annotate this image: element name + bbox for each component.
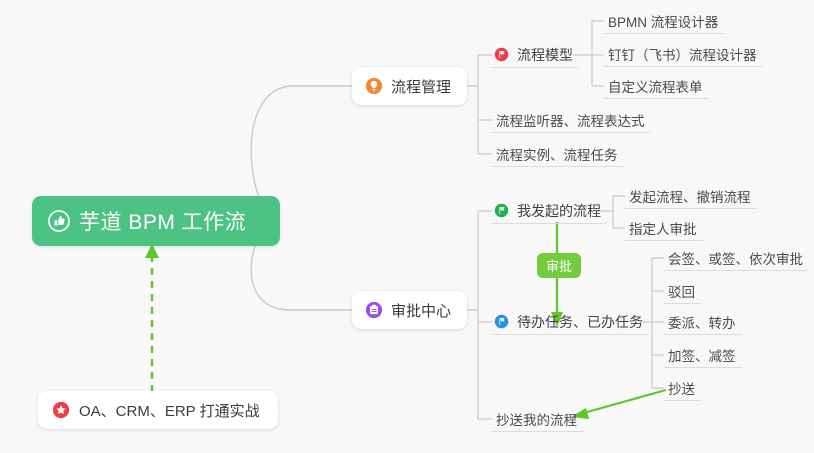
flag-icon-red — [494, 47, 509, 62]
root-node[interactable]: 芋道 BPM 工作流 — [32, 196, 280, 246]
sub-node-label: 我发起的流程 — [517, 201, 601, 221]
leaf-label: 抄送我的流程 — [496, 409, 577, 429]
leaf-add-remove-sign[interactable]: 加签、减签 — [664, 343, 742, 368]
flag-icon-green — [494, 203, 509, 218]
thumbs-up-icon — [48, 210, 70, 232]
branch-process-management[interactable]: 流程管理 — [352, 67, 467, 105]
leaf-custom-form[interactable]: 自定义流程表单 — [604, 74, 709, 99]
sub-node-label: 待办任务、已办任务 — [517, 312, 643, 332]
leaf-label: 驳回 — [668, 281, 695, 301]
link-todo-to-leaf1 — [652, 258, 664, 322]
root-label: 芋道 BPM 工作流 — [79, 206, 246, 236]
leaf-label: BPMN 流程设计器 — [608, 11, 718, 31]
leaf-start-cancel-process[interactable]: 发起流程、撤销流程 — [625, 184, 757, 209]
leaf-assignee-approval[interactable]: 指定人审批 — [625, 216, 703, 241]
leaf-label: 委派、转办 — [668, 312, 736, 332]
leaf-process-listener[interactable]: 流程监听器、流程表达式 — [492, 108, 651, 133]
leaf-delegate-transfer[interactable]: 委派、转办 — [664, 310, 742, 335]
sub-node-label: 流程模型 — [517, 45, 573, 65]
leaf-carbon-copy[interactable]: 抄送 — [664, 376, 701, 401]
leaf-label: 发起流程、撤销流程 — [629, 186, 751, 206]
leaf-bpmn-designer[interactable]: BPMN 流程设计器 — [604, 9, 724, 34]
integration-callout-node[interactable]: OA、CRM、ERP 打通实战 — [38, 391, 278, 429]
arrow-cc-flow — [580, 390, 666, 414]
tag-label: 审批 — [546, 256, 572, 275]
mindmap-canvas: 芋道 BPM 工作流 流程管理 流程模型 BPMN 流程设计器 钉钉（飞书 — [0, 0, 814, 453]
leaf-label: 自定义流程表单 — [608, 76, 703, 96]
leaf-label: 指定人审批 — [629, 218, 697, 238]
branch-label: 流程管理 — [391, 76, 451, 97]
leaf-dingtalk-designer[interactable]: 钉钉（飞书）流程设计器 — [604, 42, 763, 67]
leaf-label: 钉钉（飞书）流程设计器 — [608, 44, 757, 64]
link-model-to-leaf1 — [592, 21, 604, 55]
link-started-to-leaf1 — [613, 196, 625, 211]
leaf-label: 流程监听器、流程表达式 — [496, 110, 645, 130]
sub-node-my-started-process[interactable]: 我发起的流程 — [492, 198, 607, 224]
sub-node-todo-done-task[interactable]: 待办任务、已办任务 — [492, 309, 649, 335]
link-pm-to-model — [478, 55, 492, 86]
callout-label: OA、CRM、ERP 打通实战 — [79, 400, 260, 421]
leaf-label: 流程实例、流程任务 — [496, 144, 618, 164]
leaf-process-instance[interactable]: 流程实例、流程任务 — [492, 142, 624, 167]
link-ac-trunk — [463, 310, 478, 419]
leaf-label: 会签、或签、依次审批 — [668, 248, 803, 268]
branch-approval-center[interactable]: 审批中心 — [352, 291, 467, 329]
sub-node-process-model[interactable]: 流程模型 — [492, 42, 579, 68]
clipboard-icon — [365, 301, 383, 319]
lightbulb-icon — [365, 77, 383, 95]
leaf-label: 加签、减签 — [668, 345, 736, 365]
leaf-countersign[interactable]: 会签、或签、依次审批 — [664, 246, 809, 271]
approval-flow-tag[interactable]: 审批 — [537, 253, 581, 278]
leaf-reject[interactable]: 驳回 — [664, 279, 701, 304]
star-icon — [52, 401, 70, 419]
leaf-label: 抄送 — [668, 378, 695, 398]
flag-icon-blue — [494, 314, 509, 329]
link-ac-to-started — [478, 211, 492, 310]
branch-label: 审批中心 — [391, 300, 451, 321]
arrow-callout-head — [145, 244, 159, 258]
leaf-cc-my-process[interactable]: 抄送我的流程 — [492, 407, 583, 432]
